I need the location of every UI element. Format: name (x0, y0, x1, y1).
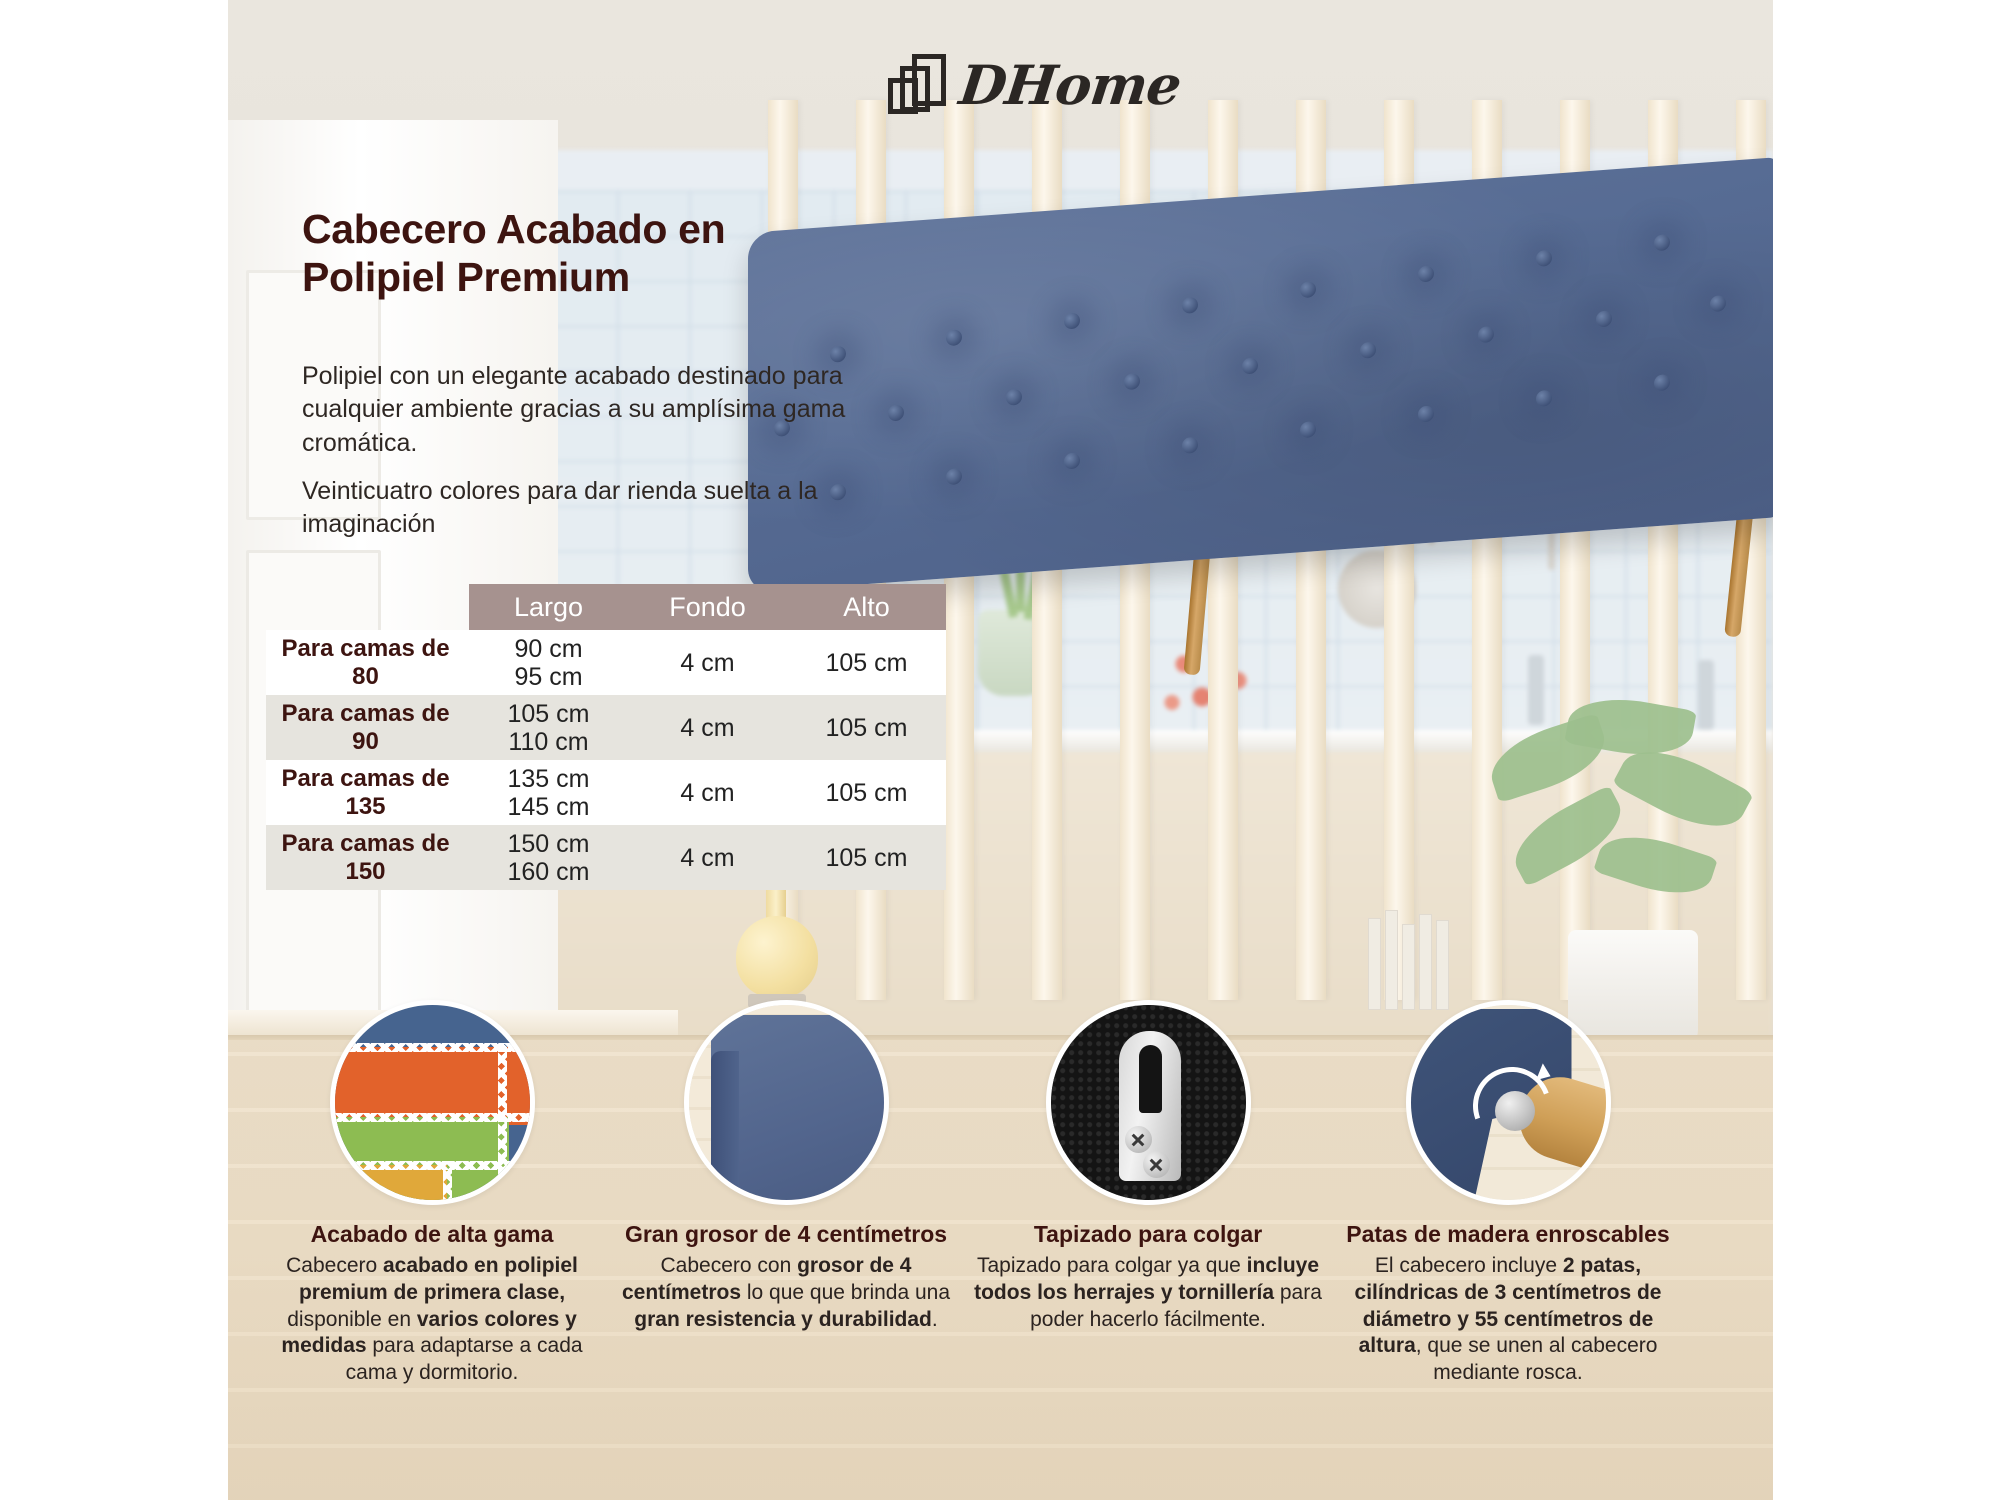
cell-alto: 105 cm (787, 844, 946, 872)
wall-hanging-bracket-icon (1046, 1000, 1251, 1205)
cell-largo: 135 cm145 cm (469, 765, 628, 821)
row-label: Para camas de 80 (266, 635, 469, 691)
feature-item: Tapizado para colgar Tapizado para colga… (968, 1000, 1328, 1333)
column-header-largo: Largo (469, 592, 628, 623)
background-books (1368, 905, 1488, 1010)
feature-body: El cabecero incluye 2 patas, cilíndricas… (1328, 1253, 1688, 1386)
feature-title: Gran grosor de 4 centímetros (606, 1221, 966, 1247)
features-section: Acabado de alta gama Cabecero acabado en… (228, 1000, 1773, 1500)
description-paragraph-2: Veinticuatro colores para dar rienda sue… (302, 475, 902, 542)
row-label: Para camas de 90 (266, 700, 469, 756)
fabric-swatches-icon (330, 1000, 535, 1205)
cell-largo: 105 cm110 cm (469, 700, 628, 756)
feature-body: Cabecero acabado en polipiel premium de … (252, 1253, 612, 1386)
feature-item: Patas de madera enroscables El cabecero … (1328, 1000, 1688, 1387)
yellow-vase-icon (728, 880, 826, 1010)
cell-fondo: 4 cm (628, 844, 787, 872)
table-row: Para camas de 80 90 cm95 cm 4 cm 105 cm (266, 630, 946, 695)
column-header-alto: Alto (787, 592, 946, 623)
column-header-fondo: Fondo (628, 592, 787, 623)
feature-title: Tapizado para colgar (968, 1221, 1328, 1247)
feature-body: Tapizado para colgar ya que incluye todo… (968, 1253, 1328, 1333)
feature-title: Acabado de alta gama (252, 1221, 612, 1247)
row-label: Para camas de 135 (266, 765, 469, 821)
cell-alto: 105 cm (787, 714, 946, 742)
feature-body: Cabecero con grosor de 4 centímetros lo … (606, 1253, 966, 1333)
row-label: Para camas de 150 (266, 830, 469, 886)
product-infographic: DHome Cabecero Acabado en Polipiel Premi… (0, 0, 2000, 1500)
infographic-canvas: DHome Cabecero Acabado en Polipiel Premi… (228, 0, 1773, 1500)
table-row: Para camas de 90 105 cm110 cm 4 cm 105 c… (266, 695, 946, 760)
dimensions-table: Largo Fondo Alto Para camas de 80 90 cm9… (266, 584, 946, 890)
three-overlapping-rectangles-icon (888, 54, 948, 116)
feature-item: Acabado de alta gama Cabecero acabado en… (252, 1000, 612, 1387)
table-header-row: Largo Fondo Alto (469, 584, 946, 630)
table-row: Para camas de 135 135 cm145 cm 4 cm 105 … (266, 760, 946, 825)
cell-fondo: 4 cm (628, 714, 787, 742)
cell-largo: 150 cm160 cm (469, 830, 628, 886)
feature-item: Gran grosor de 4 centímetros Cabecero co… (606, 1000, 966, 1333)
brand-name: DHome (956, 53, 1184, 117)
cell-alto: 105 cm (787, 649, 946, 677)
cell-fondo: 4 cm (628, 649, 787, 677)
table-row: Para camas de 150 150 cm160 cm 4 cm 105 … (266, 825, 946, 890)
brand-logo: DHome (888, 42, 1188, 128)
page-title: Cabecero Acabado en Polipiel Premium (302, 206, 862, 301)
cell-alto: 105 cm (787, 779, 946, 807)
cell-largo: 90 cm95 cm (469, 635, 628, 691)
feature-title: Patas de madera enroscables (1328, 1221, 1688, 1247)
description-paragraph-1: Polipiel con un elegante acabado destina… (302, 360, 902, 460)
cell-fondo: 4 cm (628, 779, 787, 807)
headboard-edge-thickness-icon (684, 1000, 889, 1205)
screw-in-wooden-leg-icon (1406, 1000, 1611, 1205)
